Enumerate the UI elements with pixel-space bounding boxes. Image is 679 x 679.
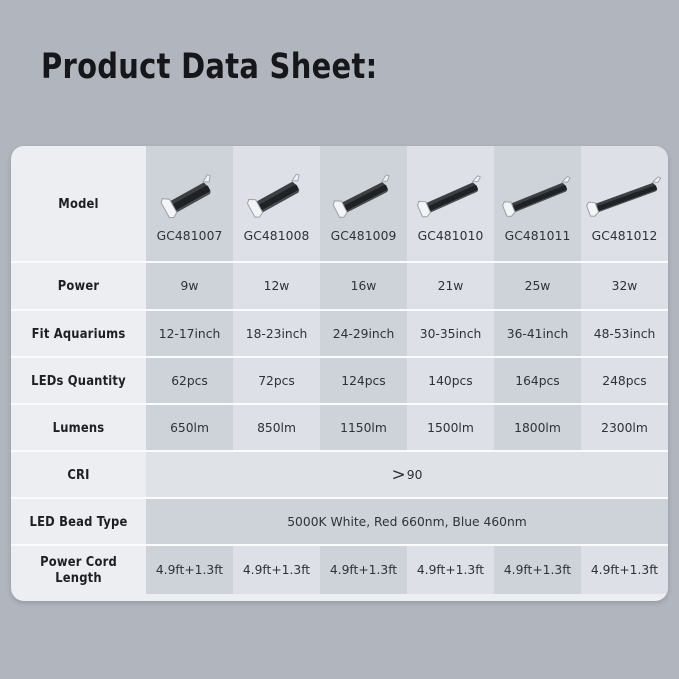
model-code-1: GC481007: [157, 229, 223, 243]
power-cell-4: 21w: [407, 263, 494, 309]
leds-quantity-cell-6: 248pcs: [581, 358, 668, 403]
greater-than-icon: >: [392, 467, 406, 484]
leds-quantity-cell-1: 62pcs: [146, 358, 233, 403]
fit-aquariums-cell-4: 30-35inch: [407, 311, 494, 356]
fit-aquariums-cell-5: 36-41inch: [494, 311, 581, 356]
power-cell-5: 25w: [494, 263, 581, 309]
product-image-6: [581, 168, 668, 226]
leds-quantity-cell-5: 164pcs: [494, 358, 581, 403]
page-title: Product Data Sheet:: [41, 47, 377, 87]
led-bead-type-cell: 5000K White, Red 660nm, Blue 460nm: [146, 499, 668, 544]
power-cord-length-cell-4: 4.9ft+1.3ft: [407, 546, 494, 594]
model-code-3: GC481009: [331, 229, 397, 243]
led-light-bar-icon: [244, 171, 310, 223]
table-row-lumens: Lumens 650lm 850lm 1150lm 1500lm 1800lm …: [11, 405, 668, 452]
led-light-bar-icon: [159, 171, 221, 223]
fit-aquariums-cell-1: 12-17inch: [146, 311, 233, 356]
led-light-bar-icon: [582, 171, 668, 223]
model-cell-3: GC481009: [320, 146, 407, 261]
product-image-4: [407, 168, 494, 226]
lumens-cell-6: 2300lm: [581, 405, 668, 450]
led-light-bar-icon: [413, 171, 489, 223]
row-label-fit-aquariums: Fit Aquariums: [14, 311, 142, 356]
power-cord-length-cell-6: 4.9ft+1.3ft: [581, 546, 668, 594]
fit-aquariums-cell-6: 48-53inch: [581, 311, 668, 356]
table-row-model: Model GC481007: [11, 146, 668, 263]
row-label-cri: CRI: [14, 452, 142, 497]
lumens-cell-4: 1500lm: [407, 405, 494, 450]
model-cell-6: GC481012: [581, 146, 668, 261]
power-cell-1: 9w: [146, 263, 233, 309]
product-image-5: [494, 168, 581, 226]
table-row-leds-quantity: LEDs Quantity 62pcs 72pcs 124pcs 140pcs …: [11, 358, 668, 405]
fit-aquariums-cell-2: 18-23inch: [233, 311, 320, 356]
table-row-cri: CRI > 90: [11, 452, 668, 499]
model-code-4: GC481010: [418, 229, 484, 243]
cri-value: > 90: [392, 466, 423, 483]
row-label-model: Model: [14, 146, 142, 261]
product-data-table: Model GC481007: [11, 146, 668, 601]
model-cell-5: GC481011: [494, 146, 581, 261]
row-label-lumens: Lumens: [14, 405, 142, 450]
row-label-power-cord-length: Power Cord Length: [14, 546, 142, 594]
row-label-power: Power: [14, 263, 142, 309]
cri-number: 90: [407, 468, 423, 482]
power-cord-length-cell-2: 4.9ft+1.3ft: [233, 546, 320, 594]
power-cell-3: 16w: [320, 263, 407, 309]
product-image-3: [320, 168, 407, 226]
cri-value-cell: > 90: [146, 452, 668, 497]
led-light-bar-icon: [329, 171, 399, 223]
power-cord-length-cell-5: 4.9ft+1.3ft: [494, 546, 581, 594]
table-row-power: Power 9w 12w 16w 21w 25w 32w: [11, 263, 668, 311]
lumens-cell-3: 1150lm: [320, 405, 407, 450]
product-image-1: [146, 168, 233, 226]
row-label-led-bead-type: LED Bead Type: [14, 499, 142, 544]
row-label-leds-quantity: LEDs Quantity: [14, 358, 142, 403]
power-cell-6: 32w: [581, 263, 668, 309]
lumens-cell-1: 650lm: [146, 405, 233, 450]
led-light-bar-icon: [498, 171, 578, 223]
lumens-cell-5: 1800lm: [494, 405, 581, 450]
table-row-power-cord-length: Power Cord Length 4.9ft+1.3ft 4.9ft+1.3f…: [11, 546, 668, 594]
model-code-6: GC481012: [592, 229, 658, 243]
table-row-led-bead-type: LED Bead Type 5000K White, Red 660nm, Bl…: [11, 499, 668, 546]
product-image-2: [233, 168, 320, 226]
leds-quantity-cell-3: 124pcs: [320, 358, 407, 403]
power-cord-length-cell-1: 4.9ft+1.3ft: [146, 546, 233, 594]
model-cell-1: GC481007: [146, 146, 233, 261]
model-cell-4: GC481010: [407, 146, 494, 261]
leds-quantity-cell-2: 72pcs: [233, 358, 320, 403]
lumens-cell-2: 850lm: [233, 405, 320, 450]
fit-aquariums-cell-3: 24-29inch: [320, 311, 407, 356]
power-cord-length-cell-3: 4.9ft+1.3ft: [320, 546, 407, 594]
model-cell-2: GC481008: [233, 146, 320, 261]
power-cell-2: 12w: [233, 263, 320, 309]
leds-quantity-cell-4: 140pcs: [407, 358, 494, 403]
table-row-fit-aquariums: Fit Aquariums 12-17inch 18-23inch 24-29i…: [11, 311, 668, 358]
model-code-5: GC481011: [505, 229, 571, 243]
model-code-2: GC481008: [244, 229, 310, 243]
